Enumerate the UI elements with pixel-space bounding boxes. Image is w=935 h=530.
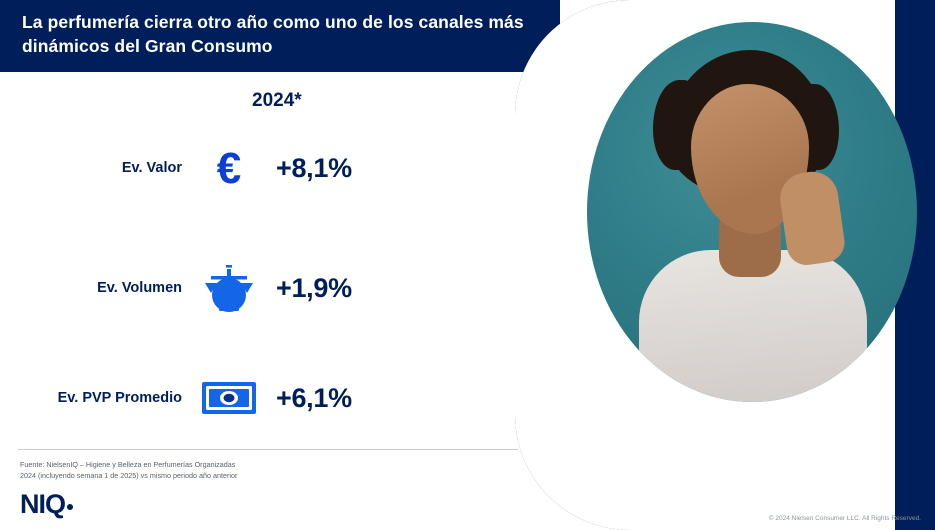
banknote-icon	[190, 381, 268, 415]
niq-logo: NIQ	[20, 489, 73, 520]
euro-icon: €	[190, 144, 268, 192]
metric-label-volumen: Ev. Volumen	[0, 280, 190, 296]
svg-text:€: €	[217, 144, 241, 192]
metric-label-pvp: Ev. PVP Promedio	[0, 390, 190, 406]
slide-root: La perfumería cierra otro año como uno d…	[0, 0, 935, 530]
hero-portrait-image	[587, 22, 917, 402]
source-note: Fuente: NielsenIQ – Higiene y Belleza en…	[20, 460, 490, 482]
metric-row: Ev. Valor € +8,1%	[0, 138, 430, 198]
hero-panel	[515, 0, 935, 530]
metric-label-valor: Ev. Valor	[0, 160, 190, 176]
metric-value-volumen: +1,9%	[268, 273, 352, 304]
metric-value-pvp: +6,1%	[268, 383, 352, 414]
metric-row: Ev. Volumen +1,9%	[0, 258, 430, 318]
title-band: La perfumería cierra otro año como uno d…	[0, 0, 560, 72]
page-title: La perfumería cierra otro año como uno d…	[22, 11, 542, 58]
portrait-hand	[777, 168, 847, 267]
metric-value-valor: +8,1%	[268, 153, 352, 184]
footer-divider	[18, 449, 518, 450]
metric-row: Ev. PVP Promedio +6,1%	[0, 368, 430, 428]
year-label: 2024*	[252, 90, 302, 112]
copyright-text: © 2024 Nielsen Consumer LLC. All Rights …	[769, 515, 921, 522]
scales-balance-icon	[190, 263, 268, 313]
niq-logo-text: NIQ	[20, 489, 65, 519]
niq-logo-dot	[67, 504, 73, 510]
